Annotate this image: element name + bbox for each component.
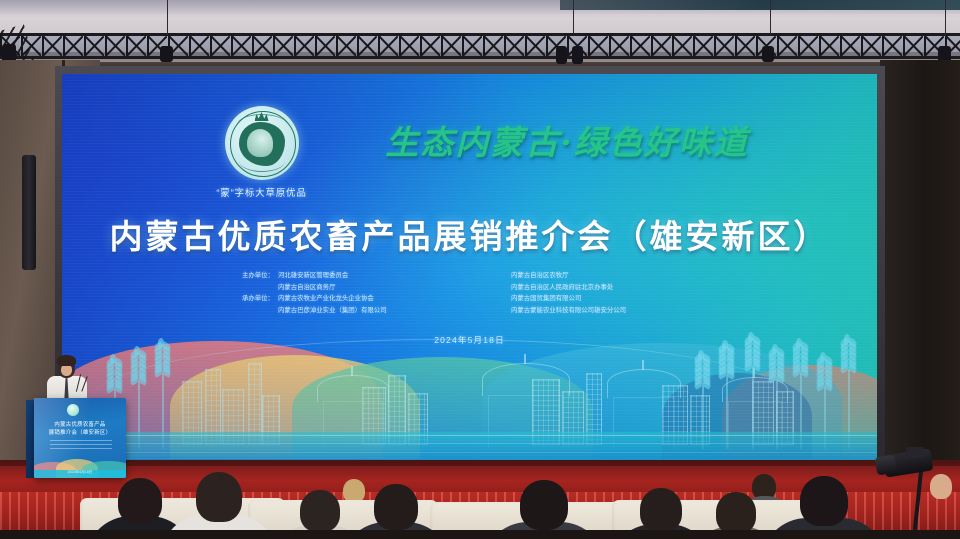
truss-brace	[714, 36, 734, 56]
truss-post	[714, 36, 716, 56]
camera-lens-icon	[875, 455, 898, 476]
foreground-floor	[0, 530, 960, 539]
truss-brace	[735, 36, 755, 56]
truss-brace	[63, 36, 83, 56]
stage-light	[762, 46, 774, 62]
audience-member-head	[300, 490, 340, 532]
audience-member-head	[800, 476, 848, 526]
truss-post	[378, 36, 380, 56]
truss-post	[210, 36, 212, 56]
audience-member-head	[196, 472, 242, 522]
truss-brace	[861, 36, 881, 56]
truss-brace	[42, 36, 62, 56]
truss-brace	[357, 36, 377, 56]
truss-post	[546, 36, 548, 56]
truss-brace	[672, 36, 692, 56]
truss-post	[882, 36, 884, 56]
audience-member-head	[716, 492, 756, 534]
truss-post	[357, 36, 359, 56]
truss-brace	[315, 36, 335, 56]
coorganizer-label: 承办单位：	[242, 293, 274, 316]
truss-brace	[882, 36, 902, 56]
truss-brace	[693, 36, 713, 56]
truss-post	[420, 36, 422, 56]
truss-brace	[630, 36, 650, 56]
seated-person-head	[930, 474, 952, 499]
coorganizer-row: 承办单位： 内蒙古农牧业产业化龙头企业协会 内蒙古巴彦淖业实业（集团）有限公司	[242, 293, 493, 316]
truss-post	[504, 36, 506, 56]
organizer-item: 内蒙古农牧业产业化龙头企业协会	[278, 293, 387, 305]
truss-post	[840, 36, 842, 56]
truss-brace	[273, 36, 293, 56]
truss-brace	[483, 36, 503, 56]
truss-drop-wire	[573, 0, 574, 33]
podium-title-line1: 内蒙古优质农畜产品	[34, 420, 126, 428]
ceiling-dark-panel	[560, 0, 960, 10]
truss-brace	[777, 36, 797, 56]
organizers-block: 主办单位： 河北雄安新区管理委员会 内蒙古自治区商务厅 承办单位： 内蒙古农牧业…	[242, 270, 762, 317]
truss-post	[651, 36, 653, 56]
truss-brace	[840, 36, 860, 56]
truss-drop-wire	[945, 0, 946, 36]
truss-post	[63, 36, 65, 56]
podium-subtext	[50, 440, 112, 452]
stage-light	[572, 46, 583, 64]
podium-title-line2: 展销推介会（雄安新区）	[34, 428, 126, 436]
truss-post	[147, 36, 149, 56]
truss-brace	[399, 36, 419, 56]
truss-post	[252, 36, 254, 56]
truss-post	[105, 36, 107, 56]
brand-emblem-block: “蒙”字标大草原优品	[214, 106, 309, 199]
truss-brace	[84, 36, 104, 56]
truss-brace	[651, 36, 671, 56]
truss-post	[861, 36, 863, 56]
truss-post	[819, 36, 821, 56]
emblem-caption: “蒙”字标大草原优品	[214, 185, 309, 199]
truss-brace	[336, 36, 356, 56]
truss-brace	[189, 36, 209, 56]
organizers-right-column: 内蒙古自治区农牧厅 内蒙古自治区人民政府驻北京办事处 内蒙古国贸集团有限公司 内…	[511, 270, 762, 317]
truss-brace	[105, 36, 125, 56]
stage-light	[160, 46, 173, 62]
organizer-item: 内蒙古自治区人民政府驻北京办事处	[511, 282, 762, 294]
event-date: 2024年5月18日	[62, 334, 877, 346]
truss-post	[525, 36, 527, 56]
truss-drop-wire	[167, 0, 168, 35]
truss-brace	[231, 36, 251, 56]
organizers-left-column: 主办单位： 河北雄安新区管理委员会 内蒙古自治区商务厅 承办单位： 内蒙古农牧业…	[242, 270, 493, 317]
screen-main-title: 内蒙古优质农畜产品展销推介会（雄安新区）	[62, 210, 877, 258]
truss-brace	[378, 36, 398, 56]
organizer-item: 内蒙古巴彦淖业实业（集团）有限公司	[278, 305, 387, 317]
podium-emblem-icon	[67, 404, 79, 416]
truss-post	[273, 36, 275, 56]
truss-brace	[462, 36, 482, 56]
truss-brace	[126, 36, 146, 56]
audience-member-head	[520, 480, 568, 530]
mongolia-brand-emblem-icon	[225, 106, 299, 180]
truss-post	[903, 36, 905, 56]
truss-post	[189, 36, 191, 56]
host-label: 主办单位：	[242, 270, 274, 293]
truss-brace	[441, 36, 461, 56]
truss-brace	[525, 36, 545, 56]
wall-loudspeaker	[22, 155, 36, 270]
truss-brace	[210, 36, 230, 56]
truss-post	[336, 36, 338, 56]
podium: 内蒙古优质农畜产品 展销推介会（雄安新区） 2024年5月18日	[34, 398, 126, 478]
truss-post	[798, 36, 800, 56]
truss-brace	[420, 36, 440, 56]
truss-post	[126, 36, 128, 56]
truss-post	[567, 36, 569, 56]
truss-post	[756, 36, 758, 56]
truss-brace	[588, 36, 608, 56]
truss-drop-wire	[770, 0, 771, 34]
truss-brace	[252, 36, 272, 56]
camera-hood	[906, 447, 924, 458]
truss-post	[294, 36, 296, 56]
truss-post	[630, 36, 632, 56]
truss-post	[399, 36, 401, 56]
truss-post	[84, 36, 86, 56]
truss-post	[483, 36, 485, 56]
led-screen: “蒙”字标大草原优品 生态内蒙古·绿色好味道 内蒙古优质农畜产品展销推介会（雄安…	[62, 74, 877, 466]
truss-post	[441, 36, 443, 56]
truss-post	[777, 36, 779, 56]
truss-post	[462, 36, 464, 56]
truss-post	[609, 36, 611, 56]
audience-member-head	[640, 488, 682, 532]
truss-brace	[798, 36, 818, 56]
truss-brace	[609, 36, 629, 56]
truss-post	[924, 36, 926, 56]
organizer-item: 内蒙古自治区农牧厅	[511, 270, 762, 282]
coorg-left-values: 内蒙古农牧业产业化龙头企业协会 内蒙古巴彦淖业实业（集团）有限公司	[278, 293, 387, 316]
truss-brace	[819, 36, 839, 56]
audience-member-head	[374, 484, 418, 530]
presenter-hair	[57, 355, 76, 366]
conference-photo-scene: “蒙”字标大草原优品 生态内蒙古·绿色好味道 内蒙古优质农畜产品展销推介会（雄安…	[0, 0, 960, 539]
screen-slogan: 生态内蒙古·绿色好味道	[332, 116, 802, 164]
truss-post	[693, 36, 695, 56]
truss-brace	[504, 36, 524, 56]
organizer-item: 内蒙古国贸集团有限公司	[511, 293, 762, 305]
lighting-truss	[0, 33, 960, 59]
podium-date: 2024年5月18日	[34, 470, 126, 475]
truss-post	[231, 36, 233, 56]
truss-brace	[294, 36, 314, 56]
stage-light	[556, 46, 567, 64]
truss-post	[588, 36, 590, 56]
truss-post	[315, 36, 317, 56]
truss-post	[672, 36, 674, 56]
organizer-item: 河北雄安新区管理委员会	[278, 270, 348, 282]
host-row: 主办单位： 河北雄安新区管理委员会 内蒙古自治区商务厅	[242, 270, 493, 293]
truss-post	[42, 36, 44, 56]
truss-rail-bottom	[0, 56, 960, 59]
host-left-values: 河北雄安新区管理委员会 内蒙古自治区商务厅	[278, 270, 348, 293]
organizer-item: 内蒙古蒙能农业科技有限公司雄安分公司	[511, 305, 762, 317]
truss-brace	[903, 36, 923, 56]
right-wall-panel	[880, 60, 960, 490]
organizer-item: 内蒙古自治区商务厅	[278, 282, 348, 294]
truss-post	[735, 36, 737, 56]
audience-member-head	[118, 478, 162, 524]
